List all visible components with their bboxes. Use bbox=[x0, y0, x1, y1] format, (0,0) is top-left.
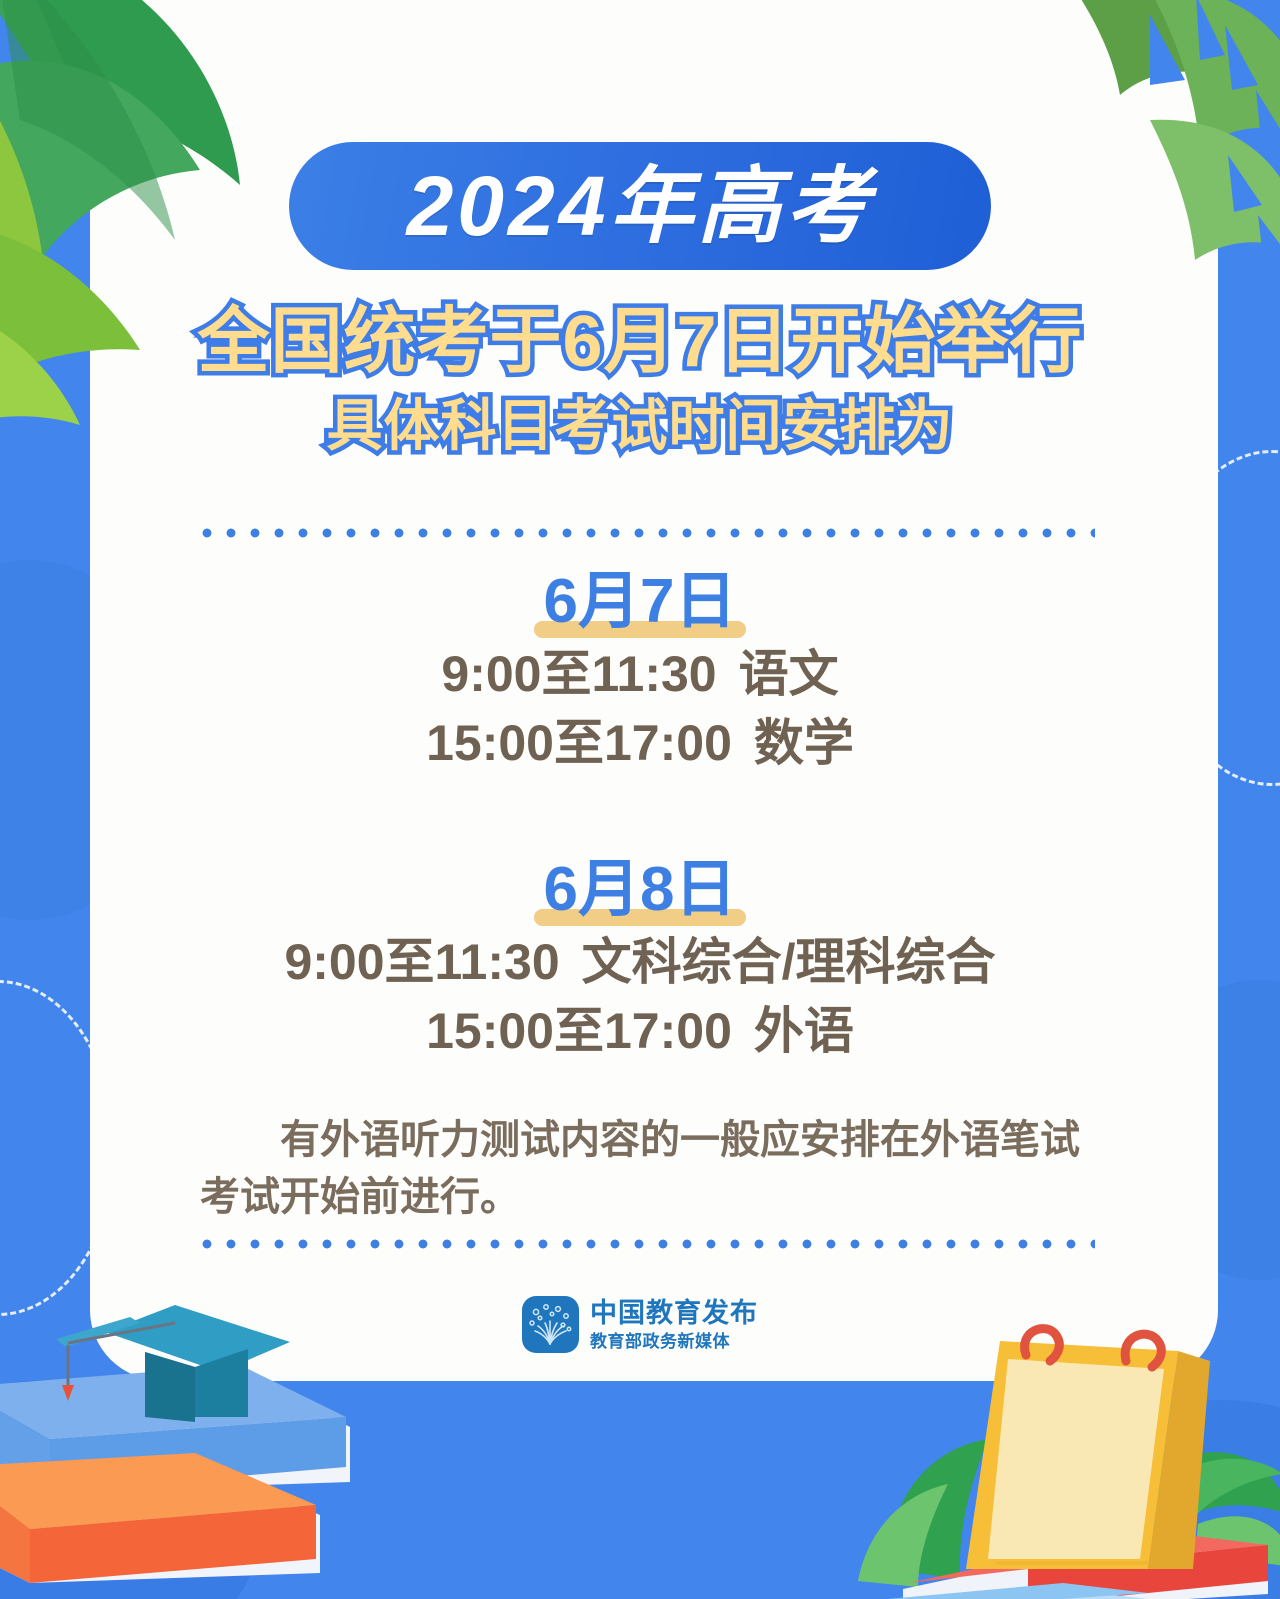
graduation-cap-and-books-icon bbox=[0, 1277, 420, 1599]
monstera-leaves-top-right-icon bbox=[1000, 0, 1280, 290]
date-heading-label: 6月7日 bbox=[544, 567, 737, 636]
schedule-time: 15:00至17:00 bbox=[426, 715, 732, 771]
schedule-subject: 语文 bbox=[739, 646, 839, 702]
brand-text: 中国教育发布 教育部政务新媒体 bbox=[590, 1300, 758, 1350]
dandelion-icon bbox=[522, 1296, 579, 1353]
footnote-text: 有外语听力测试内容的一般应安排在外语笔试考试开始前进行。 bbox=[200, 1112, 1092, 1226]
schedule-row: 15:00至17:00数学 bbox=[0, 709, 1280, 778]
schedule-row: 9:00至11:30文科综合/理科综合 bbox=[0, 928, 1280, 997]
headline-line-1: 全国统考于6月7日开始举行 bbox=[0, 300, 1280, 385]
schedule-subject: 外语 bbox=[754, 1003, 854, 1059]
date-heading: 6月8日 bbox=[534, 856, 747, 928]
schedule-time: 9:00至11:30 bbox=[284, 934, 559, 990]
schedule-block-june-8: 6月8日 9:00至11:30文科综合/理科综合 15:00至17:00外语 bbox=[0, 856, 1280, 1066]
desk-calendar-books-leaves-icon bbox=[848, 1269, 1280, 1599]
dotted-divider-top bbox=[195, 527, 1095, 539]
schedule-time: 9:00至11:30 bbox=[441, 646, 716, 702]
schedule-row: 9:00至11:30语文 bbox=[0, 640, 1280, 709]
brand-subtitle: 教育部政务新媒体 bbox=[590, 1333, 758, 1350]
schedule-subject: 数学 bbox=[754, 715, 854, 771]
schedule-subject: 文科综合/理科综合 bbox=[582, 934, 996, 990]
headline-line-2: 具体科目考试时间安排为 bbox=[0, 393, 1280, 459]
footer-brand: 中国教育发布 教育部政务新媒体 bbox=[522, 1296, 758, 1353]
dotted-divider-bottom bbox=[195, 1238, 1095, 1250]
schedule-row: 15:00至17:00外语 bbox=[0, 997, 1280, 1066]
date-heading: 6月7日 bbox=[534, 568, 747, 640]
brand-name: 中国教育发布 bbox=[590, 1300, 758, 1327]
date-heading-label: 6月8日 bbox=[544, 855, 737, 924]
schedule-block-june-7: 6月7日 9:00至11:30语文 15:00至17:00数学 bbox=[0, 568, 1280, 778]
schedule-time: 15:00至17:00 bbox=[426, 1003, 732, 1059]
poster-title-pill: 2024年高考 bbox=[289, 142, 991, 270]
headline-block: 全国统考于6月7日开始举行 具体科目考试时间安排为 bbox=[0, 300, 1280, 459]
poster-title: 2024年高考 bbox=[407, 164, 874, 248]
poster-root: 2024年高考 全国统考于6月7日开始举行 具体科目考试时间安排为 6月7日 9… bbox=[0, 0, 1280, 1599]
